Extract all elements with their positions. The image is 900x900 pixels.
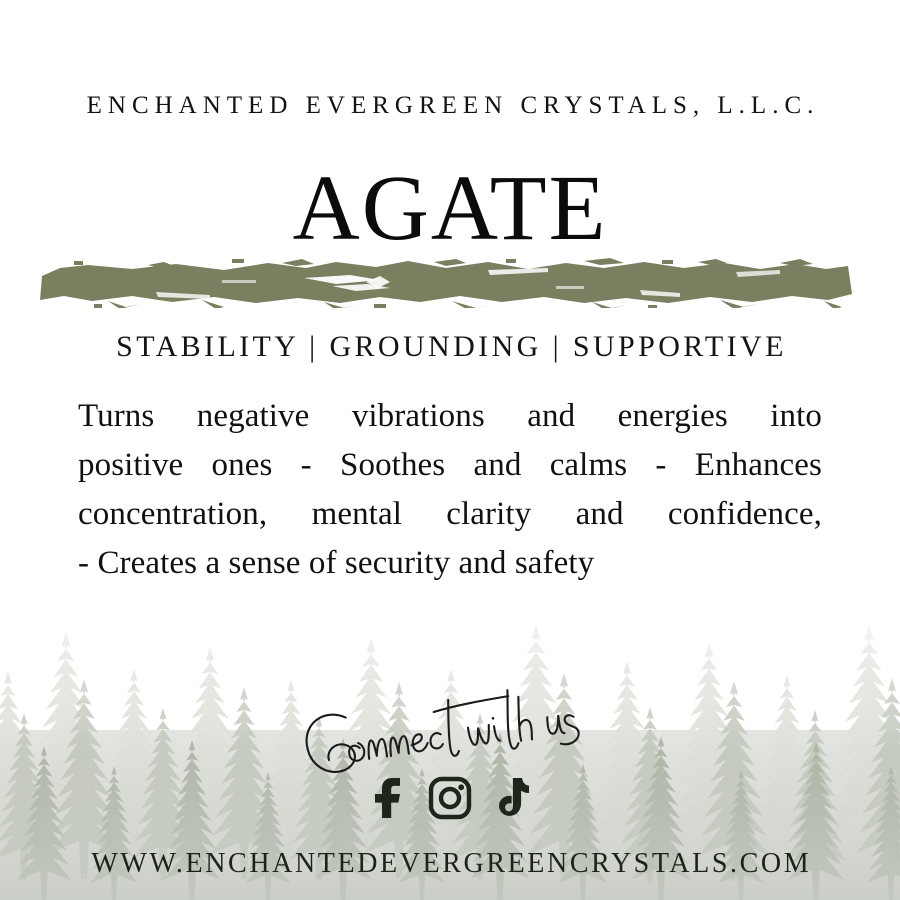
brand-name: ENCHANTED EVERGREEN CRYSTALS, L.L.C. xyxy=(0,92,900,120)
keywords-line: STABILITY | GROUNDING | SUPPORTIVE xyxy=(0,330,900,364)
page-title: AGATE xyxy=(0,160,900,258)
instagram-icon[interactable] xyxy=(428,776,472,820)
description-line: - Creates a sense of security and safety xyxy=(78,539,822,588)
crystal-description: Turns negative vibrations and energies i… xyxy=(78,392,822,588)
website-url[interactable]: WWW.ENCHANTEDEVERGREENCRYSTALS.COM xyxy=(0,848,900,880)
tiktok-icon[interactable] xyxy=(489,776,529,820)
crystal-info-card: ENCHANTED EVERGREEN CRYSTALS, L.L.C. AGA… xyxy=(0,0,900,900)
description-line: positive ones - Soothes and calms - Enha… xyxy=(78,441,822,490)
brush-stroke-divider xyxy=(36,256,854,308)
description-line: concentration, mental clarity and confid… xyxy=(78,490,822,539)
social-links xyxy=(0,776,900,820)
description-line: Turns negative vibrations and energies i… xyxy=(78,392,822,441)
facebook-icon[interactable] xyxy=(371,776,411,820)
